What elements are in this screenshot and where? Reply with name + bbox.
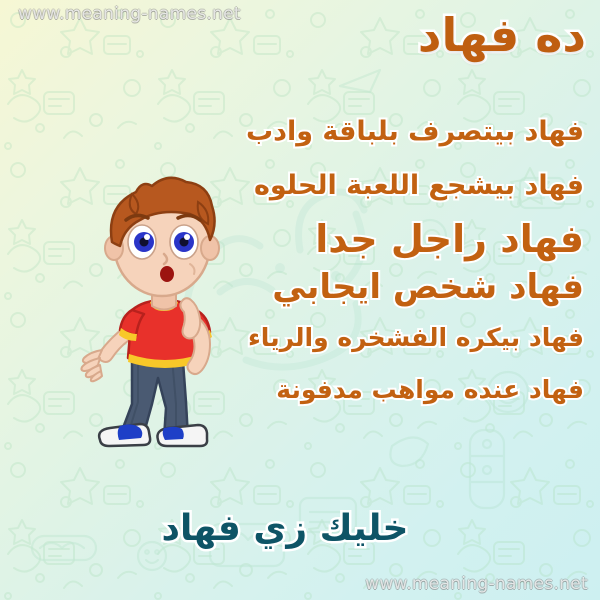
phrase-line-1: فهاد بيتصرف بلباقة وادب — [0, 118, 584, 146]
phrase-line-3: فهاد راجل جدا — [0, 220, 584, 260]
phrase-line-6: فهاد عنده مواهب مدفونة — [0, 377, 584, 403]
phrase-line-2: فهاد بيشجع اللعبة الحلوه — [0, 172, 584, 200]
footer-slogan: خليك زي فهاد — [0, 508, 570, 549]
phrase-line-5: فهاد بيكره الفشخره والرياء — [0, 325, 584, 351]
watermark-top-left: www.meaning-names.net — [18, 4, 241, 24]
phrase-list: فهاد بيتصرف بلباقة وادب فهاد بيشجع اللعب… — [0, 118, 584, 403]
watermark-bottom-right: www.meaning-names.net — [365, 574, 588, 594]
phrase-line-4: فهاد شخص ايجابي — [0, 270, 584, 305]
page-title: ده فهاد — [418, 8, 586, 62]
name-meaning-card: www.meaning-names.net ده فهاد — [0, 0, 600, 600]
